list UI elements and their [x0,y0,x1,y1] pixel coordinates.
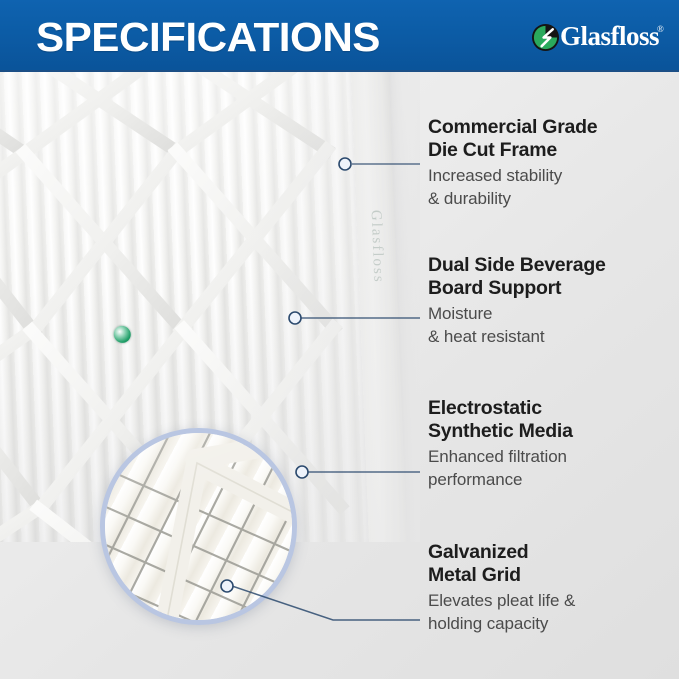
trademark-symbol: ® [657,24,664,34]
callout-title-line-1: Dual Side Beverage [428,254,678,277]
callout-sub-line-1: Increased stability [428,165,678,187]
brand-logo: Glasfloss ® [531,22,665,56]
callout-title-line-2: Board Support [428,277,678,300]
callout-sub-line-1: Elevates pleat life & [428,590,678,612]
callout-subtitle: Moisture & heat resistant [428,303,678,348]
callout-title-line-2: Die Cut Frame [428,139,678,162]
green-logo-dot [113,326,131,343]
brand-wordmark: Glasfloss [560,21,659,52]
callout-galvanized-metal-grid: Galvanized Metal Grid Elevates pleat lif… [428,541,678,635]
page-title: SPECIFICATIONS [36,14,380,61]
zoomed-wire-grid [100,428,297,625]
specifications-infographic: Glasfloss [0,0,679,679]
callout-title: Commercial Grade Die Cut Frame [428,116,678,161]
callout-title-line-1: Galvanized [428,541,678,564]
callout-title: Electrostatic Synthetic Media [428,397,678,442]
callout-title-line-2: Synthetic Media [428,420,678,443]
callout-subtitle: Increased stability & durability [428,165,678,210]
detail-magnifier [100,428,297,625]
callout-dual-side-beverage-board-support: Dual Side Beverage Board Support Moistur… [428,254,678,348]
callout-title: Dual Side Beverage Board Support [428,254,678,299]
callout-subtitle: Enhanced filtration performance [428,446,678,491]
frame-brand-text: Glasfloss [367,210,387,284]
callout-title-line-1: Commercial Grade [428,116,678,139]
callout-sub-line-2: performance [428,469,678,491]
callout-title-line-2: Metal Grid [428,564,678,587]
header-underline [0,70,679,72]
callout-commercial-grade-die-cut-frame: Commercial Grade Die Cut Frame Increased… [428,116,678,210]
callout-sub-line-1: Enhanced filtration [428,446,678,468]
callout-electrostatic-synthetic-media: Electrostatic Synthetic Media Enhanced f… [428,397,678,491]
header-bar: SPECIFICATIONS Glasfloss ® [0,0,679,72]
magnifier-contents [100,428,297,625]
callout-sub-line-2: & heat resistant [428,326,678,348]
callout-title-line-1: Electrostatic [428,397,678,420]
glasfloss-g-mark [531,23,560,52]
callout-subtitle: Elevates pleat life & holding capacity [428,590,678,635]
callout-sub-line-2: holding capacity [428,613,678,635]
callout-sub-line-2: & durability [428,188,678,210]
callout-sub-line-1: Moisture [428,303,678,325]
callout-title: Galvanized Metal Grid [428,541,678,586]
